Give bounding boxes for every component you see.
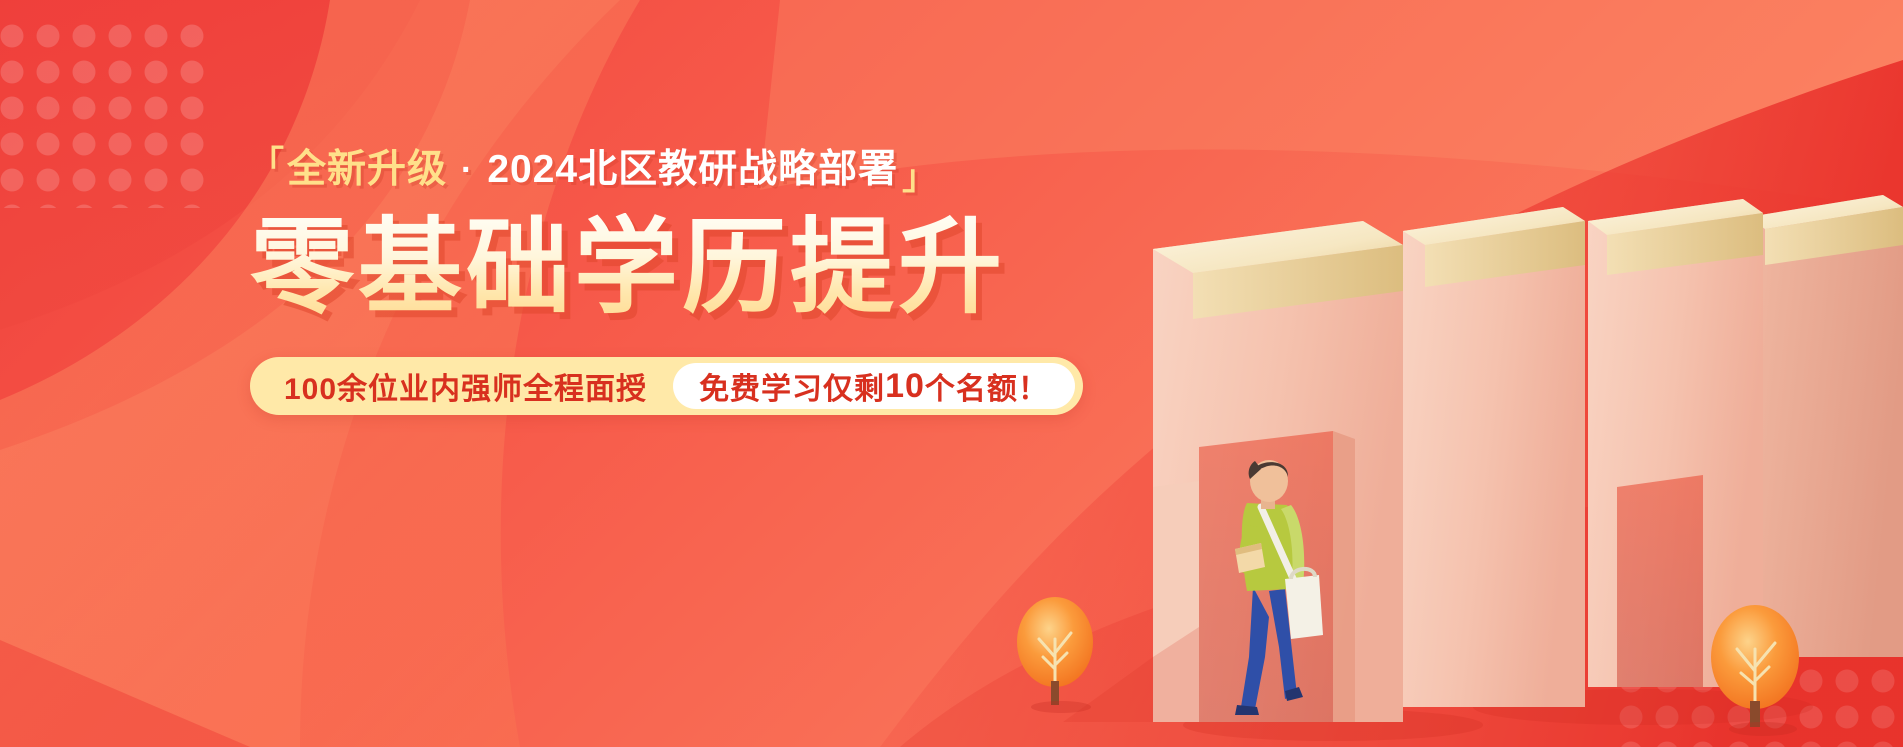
offer-pill-row: 100余位业内强师全程面授 免费学习仅剩10个名额！ xyxy=(250,357,1083,415)
pill-seats-badge[interactable]: 免费学习仅剩10个名额！ xyxy=(673,363,1075,409)
page-title: 零基础学历提升学霸班 xyxy=(250,213,1010,323)
book-arch-3 xyxy=(1588,199,1763,687)
pill-seats-number: 10 xyxy=(885,367,925,406)
tree-right xyxy=(1711,605,1799,736)
book-arch-2 xyxy=(1403,207,1585,707)
dot-grid-bottom-right-icon xyxy=(1613,555,1903,747)
book-arch-4 xyxy=(1748,195,1903,657)
pill-seats-prefix: 免费学习仅剩 xyxy=(699,364,885,408)
pill-seats-suffix: 个名额！ xyxy=(925,364,1049,408)
bracket-close: 」 xyxy=(902,161,937,195)
copy-block: 「 全新升级 · 2024北区教研战略部署 」 零基础学历提升学霸班 100余位… xyxy=(250,150,1010,415)
student-figure xyxy=(1235,460,1323,715)
subtitle-accent-text: 全新升级 xyxy=(287,150,447,189)
banner-subtitle: 「 全新升级 · 2024北区教研战略部署 」 xyxy=(250,150,1010,189)
subtitle-main-text: 2024北区教研战略部署 xyxy=(487,150,898,189)
pill-teachers-label: 100余位业内强师全程面授 xyxy=(284,364,673,408)
bracket-open: 「 xyxy=(250,147,285,181)
subtitle-separator: · xyxy=(461,153,473,187)
promo-banner: 「 全新升级 · 2024北区教研战略部署 」 零基础学历提升学霸班 100余位… xyxy=(0,0,1903,747)
dot-grid-top-left-icon xyxy=(0,18,212,208)
tree-left xyxy=(1017,597,1093,713)
